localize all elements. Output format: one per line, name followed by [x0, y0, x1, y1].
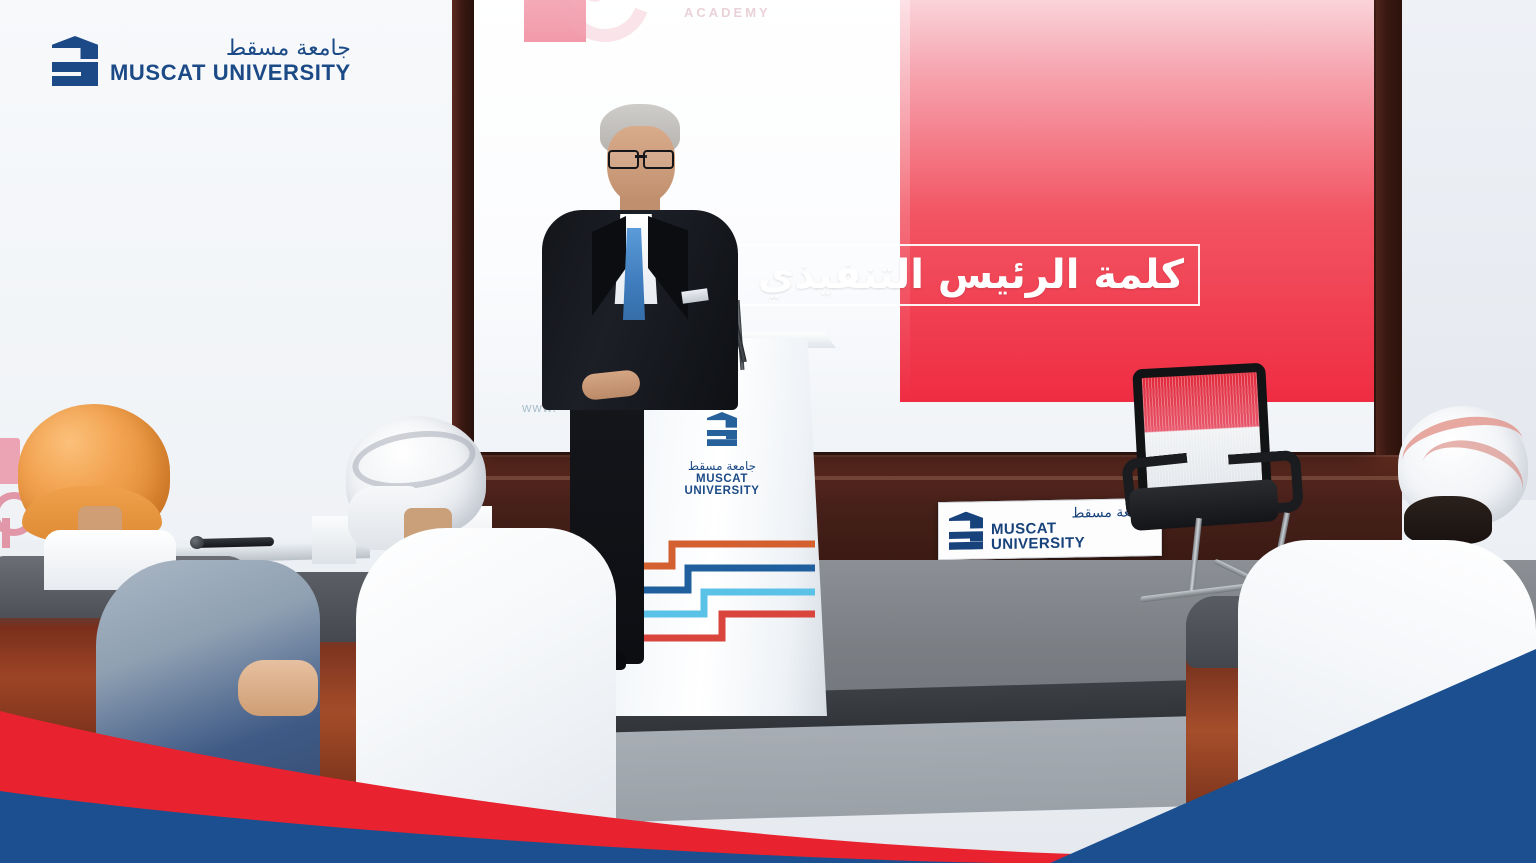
- muscat-university-house-icon: [52, 36, 98, 86]
- podium-logo-arabic: جامعة مسقط: [657, 459, 787, 473]
- chair-leg-front: [1188, 518, 1202, 596]
- slide-title-arabic: كلمة الرئيس التنفيذي: [758, 252, 1184, 298]
- muscat-university-logo: جامعة مسقط MUSCAT UNIVERSITY: [52, 36, 351, 86]
- eyeglasses-icon: [608, 150, 674, 166]
- speaker-at-podium: [520, 104, 750, 404]
- knowledge-grid-logo-icon: [552, 0, 672, 62]
- handheld-microphone-head-icon: [190, 536, 204, 549]
- slide-title-box: كلمة الرئيس التنفيذي: [700, 244, 1200, 306]
- audience-3-hands: [238, 660, 318, 716]
- brand-logo-text: جامعة مسقط MUSCAT UNIVERSITY: [110, 37, 351, 85]
- podium-logo: جامعة مسقط MUSCAT UNIVERSITY: [657, 412, 787, 497]
- podium-stripe-graphic: [630, 538, 815, 663]
- muscat-university-house-icon: [707, 412, 737, 446]
- chair-seat: [1129, 479, 1280, 531]
- muscat-university-house-icon: [949, 511, 983, 550]
- audience-4-hair: [1404, 496, 1492, 544]
- brand-logo-english: MUSCAT UNIVERSITY: [110, 61, 351, 85]
- slide-red-panel: [900, 0, 1374, 402]
- podium-zigzag-svg: [630, 538, 815, 663]
- podium-logo-english: MUSCAT UNIVERSITY: [657, 473, 787, 497]
- audience-4-white-dishdasha: [1238, 540, 1536, 860]
- brand-logo-arabic: جامعة مسقط: [110, 37, 351, 61]
- audience-2-white-dishdasha: [356, 528, 616, 858]
- event-photo-scene: KNOWLEDGE GRID ACADEMY www. كلمة الرئيس …: [0, 0, 1536, 863]
